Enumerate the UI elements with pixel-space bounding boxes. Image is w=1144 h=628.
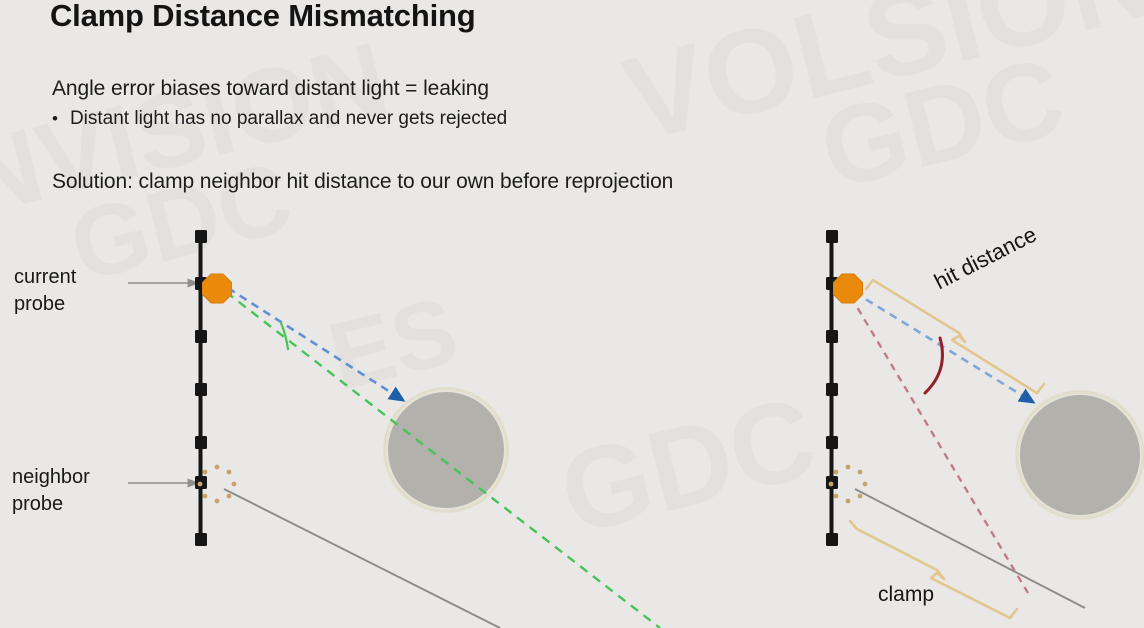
- slide-canvas: VOLSION GDC NVISION GDC GDC ES Clamp Dis…: [0, 0, 1144, 628]
- right-current-probe-marker[interactable]: [834, 274, 863, 303]
- left-current-probe-marker[interactable]: [203, 274, 232, 303]
- diagram-layer: [0, 0, 1144, 628]
- label-current-probe: current probe: [14, 264, 76, 318]
- left-diagram: [128, 230, 660, 628]
- hit-distance-bracket: [866, 280, 1044, 393]
- left-sphere: [388, 392, 504, 508]
- label-neighbor-probe: neighbor probe: [12, 464, 90, 518]
- left-green-ray: [226, 292, 660, 628]
- right-diagram: [826, 230, 1144, 618]
- right-sphere: [1020, 395, 1140, 515]
- label-clamp: clamp: [878, 583, 934, 607]
- left-blue-ray: [228, 288, 398, 397]
